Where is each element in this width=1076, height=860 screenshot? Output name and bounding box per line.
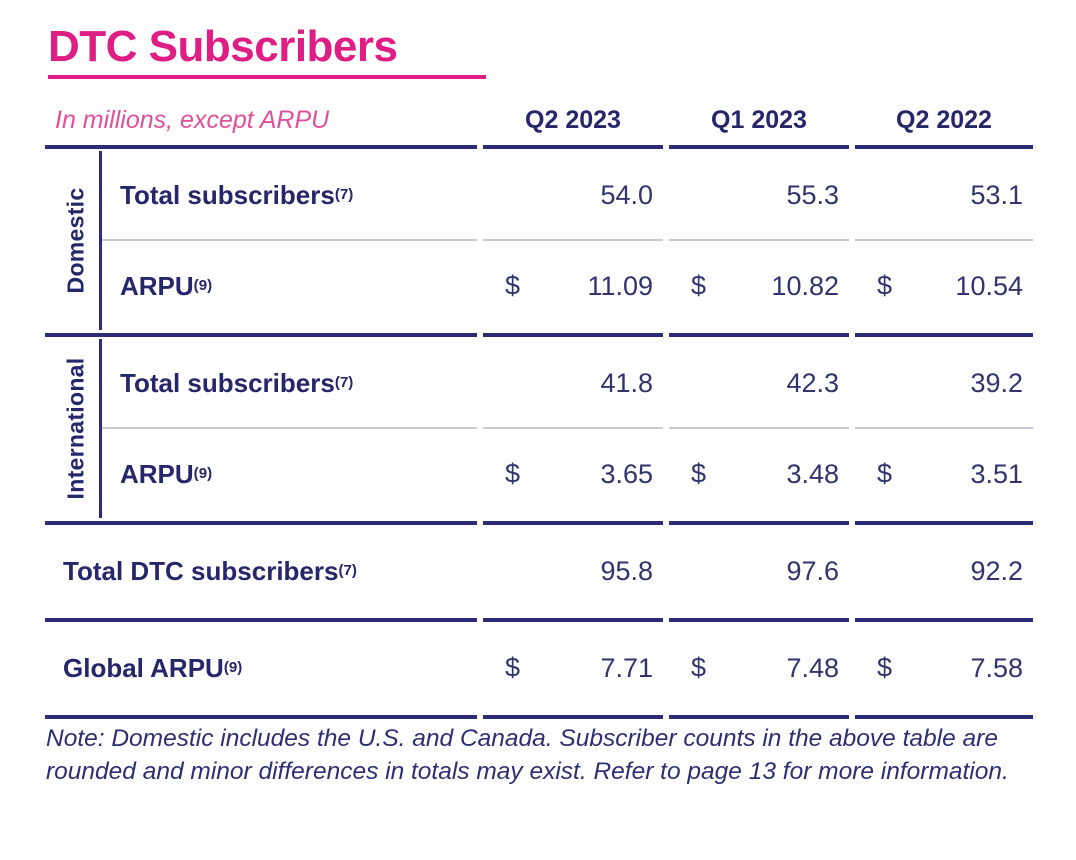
currency-symbol: $ bbox=[691, 653, 706, 684]
rule-segment-col2 bbox=[669, 145, 849, 149]
title-underline bbox=[48, 75, 486, 79]
side-label-text: Domestic bbox=[63, 188, 90, 294]
table-row: Total subscribers(7) 41.8 42.3 39.2 bbox=[45, 339, 1035, 427]
divider-segment-col2 bbox=[669, 427, 849, 429]
column-header-q2-2022: Q2 2022 bbox=[855, 98, 1033, 142]
currency-symbol: $ bbox=[505, 653, 520, 684]
currency-symbol: $ bbox=[691, 271, 706, 302]
rule-segment-label bbox=[45, 145, 477, 149]
table-row-global-arpu: Global ARPU(9) $7.71 $7.48 $7.58 bbox=[45, 624, 1035, 712]
divider-segment-col3 bbox=[855, 239, 1033, 241]
table-row: Total subscribers(7) 54.0 55.3 53.1 bbox=[45, 151, 1035, 239]
units-label: In millions, except ARPU bbox=[45, 98, 477, 142]
cell-value: $3.65 bbox=[483, 430, 663, 518]
cell-value: $3.48 bbox=[669, 430, 849, 518]
table-header-row: In millions, except ARPU Q2 2023 Q1 2023… bbox=[45, 98, 1035, 142]
rule-segment-label bbox=[45, 715, 477, 719]
value-text: 7.71 bbox=[600, 653, 653, 684]
divider-segment-label bbox=[100, 427, 477, 429]
rule-segment-col1 bbox=[483, 618, 663, 622]
rule-segment-col1 bbox=[483, 333, 663, 337]
rule-segment-col1 bbox=[483, 521, 663, 525]
value-text: 3.51 bbox=[970, 459, 1023, 490]
cell-value: $7.71 bbox=[483, 624, 663, 712]
dtc-subscribers-table: In millions, except ARPU Q2 2023 Q1 2023… bbox=[45, 98, 1035, 721]
slide-canvas: DTC Subscribers In millions, except ARPU… bbox=[0, 0, 1076, 860]
cell-value: 53.1 bbox=[855, 151, 1033, 239]
divider-segment-col3 bbox=[855, 427, 1033, 429]
value-text: 3.48 bbox=[786, 459, 839, 490]
divider-segment-label bbox=[100, 239, 477, 241]
value-text: 54.0 bbox=[600, 180, 653, 211]
cell-value: $10.54 bbox=[855, 242, 1033, 330]
section-rule bbox=[45, 330, 1035, 339]
currency-symbol: $ bbox=[877, 459, 892, 490]
value-text: 11.09 bbox=[587, 271, 653, 302]
currency-symbol: $ bbox=[505, 459, 520, 490]
rule-segment-col2 bbox=[669, 333, 849, 337]
row-label: Total DTC subscribers(7) bbox=[45, 527, 477, 615]
cell-value: 54.0 bbox=[483, 151, 663, 239]
page-title: DTC Subscribers bbox=[48, 22, 486, 72]
row-label: Global ARPU(9) bbox=[45, 624, 477, 712]
value-text: 3.65 bbox=[600, 459, 653, 490]
row-label-text: Total subscribers bbox=[120, 180, 335, 211]
currency-symbol: $ bbox=[877, 271, 892, 302]
value-text: 95.8 bbox=[600, 556, 653, 587]
cell-value: $11.09 bbox=[483, 242, 663, 330]
column-header-q2-2023: Q2 2023 bbox=[483, 98, 663, 142]
rule-segment-col3 bbox=[855, 618, 1033, 622]
row-label: Total subscribers(7) bbox=[45, 151, 477, 239]
footnote-text: Note: Domestic includes the U.S. and Can… bbox=[46, 722, 1056, 788]
value-text: 10.82 bbox=[771, 271, 839, 302]
row-label-text: ARPU bbox=[120, 459, 194, 490]
cell-value: 41.8 bbox=[483, 339, 663, 427]
rule-segment-col2 bbox=[669, 715, 849, 719]
rule-segment-col3 bbox=[855, 145, 1033, 149]
value-text: 7.48 bbox=[786, 653, 839, 684]
value-text: 53.1 bbox=[970, 180, 1023, 211]
section-side-label-domestic: Domestic bbox=[53, 151, 102, 330]
rule-segment-col1 bbox=[483, 715, 663, 719]
row-label-text: ARPU bbox=[120, 271, 194, 302]
table-row: ARPU(9) $11.09 $10.82 $10.54 bbox=[45, 242, 1035, 330]
cell-value: 97.6 bbox=[669, 527, 849, 615]
value-text: 41.8 bbox=[600, 368, 653, 399]
section-side-label-international: International bbox=[53, 339, 102, 518]
cell-value: $3.51 bbox=[855, 430, 1033, 518]
divider-segment-col1 bbox=[483, 239, 663, 241]
cell-value: 42.3 bbox=[669, 339, 849, 427]
cell-value: 55.3 bbox=[669, 151, 849, 239]
row-label: ARPU(9) bbox=[45, 242, 477, 330]
totals-middle-rule bbox=[45, 615, 1035, 624]
side-label-text: International bbox=[63, 358, 90, 500]
cell-value: 95.8 bbox=[483, 527, 663, 615]
rule-segment-col2 bbox=[669, 521, 849, 525]
cell-value: 39.2 bbox=[855, 339, 1033, 427]
rule-segment-col3 bbox=[855, 333, 1033, 337]
cell-value: 92.2 bbox=[855, 527, 1033, 615]
cell-value: $7.58 bbox=[855, 624, 1033, 712]
rule-segment-col2 bbox=[669, 618, 849, 622]
currency-symbol: $ bbox=[505, 271, 520, 302]
currency-symbol: $ bbox=[877, 653, 892, 684]
value-text: 55.3 bbox=[786, 180, 839, 211]
rule-segment-col3 bbox=[855, 715, 1033, 719]
value-text: 92.2 bbox=[970, 556, 1023, 587]
divider-segment-col2 bbox=[669, 239, 849, 241]
divider-segment-col1 bbox=[483, 427, 663, 429]
row-label-text: Global ARPU bbox=[63, 653, 224, 684]
rule-segment-col1 bbox=[483, 145, 663, 149]
rule-segment-label bbox=[45, 618, 477, 622]
totals-top-rule bbox=[45, 518, 1035, 527]
header-rule bbox=[45, 142, 1035, 151]
value-text: 7.58 bbox=[970, 653, 1023, 684]
value-text: 42.3 bbox=[786, 368, 839, 399]
rule-segment-col3 bbox=[855, 521, 1033, 525]
cell-value: $7.48 bbox=[669, 624, 849, 712]
row-label-text: Total subscribers bbox=[120, 368, 335, 399]
currency-symbol: $ bbox=[691, 459, 706, 490]
value-text: 97.6 bbox=[786, 556, 839, 587]
row-label-text: Total DTC subscribers bbox=[63, 556, 338, 587]
column-header-q1-2023: Q1 2023 bbox=[669, 98, 849, 142]
section-international: International Total subscribers(7) 41.8 … bbox=[45, 339, 1035, 518]
table-bottom-rule bbox=[45, 712, 1035, 721]
row-label: ARPU(9) bbox=[45, 430, 477, 518]
value-text: 39.2 bbox=[970, 368, 1023, 399]
row-label: Total subscribers(7) bbox=[45, 339, 477, 427]
table-row-total-subscribers: Total DTC subscribers(7) 95.8 97.6 92.2 bbox=[45, 527, 1035, 615]
table-row: ARPU(9) $3.65 $3.48 $3.51 bbox=[45, 430, 1035, 518]
title-block: DTC Subscribers bbox=[48, 22, 486, 79]
cell-value: $10.82 bbox=[669, 242, 849, 330]
rule-segment-label bbox=[45, 333, 477, 337]
section-domestic: Domestic Total subscribers(7) 54.0 55.3 … bbox=[45, 151, 1035, 330]
value-text: 10.54 bbox=[955, 271, 1023, 302]
rule-segment-label bbox=[45, 521, 477, 525]
